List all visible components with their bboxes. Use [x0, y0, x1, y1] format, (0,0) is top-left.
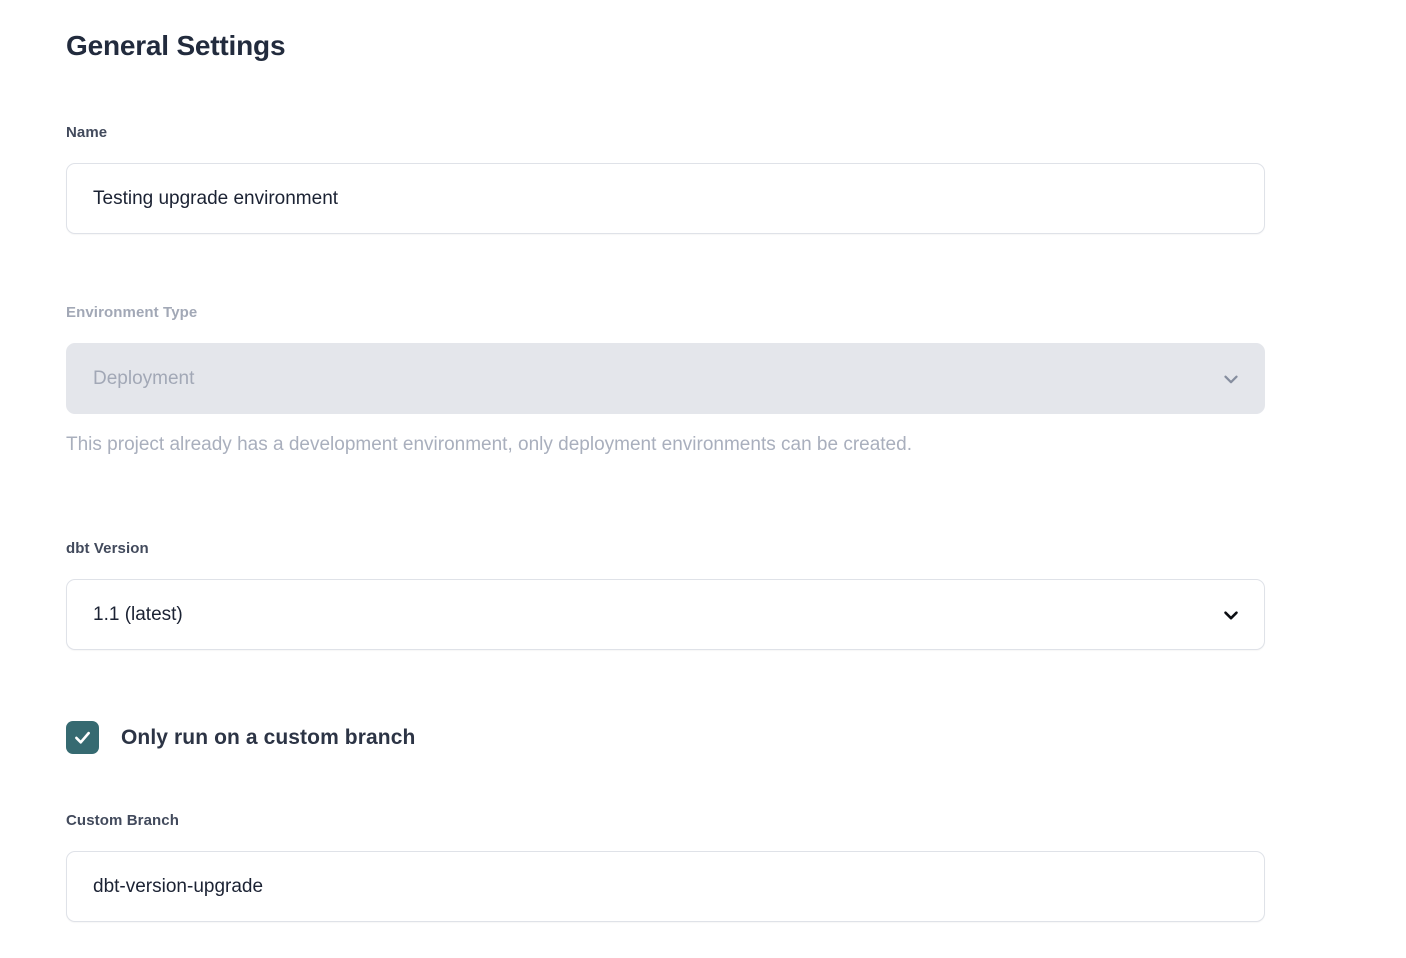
field-environment-type: Environment Type Deployment This project… — [66, 303, 1265, 458]
custom-branch-input[interactable]: dbt-version-upgrade — [66, 851, 1265, 922]
name-label: Name — [66, 123, 1265, 143]
chevron-down-icon — [1220, 368, 1242, 390]
dbt-version-label: dbt Version — [66, 539, 1265, 559]
environment-type-select[interactable]: Deployment — [66, 343, 1265, 414]
general-settings-page: General Settings Name Testing upgrade en… — [0, 0, 1406, 958]
custom-branch-label: Custom Branch — [66, 811, 1265, 831]
custom-branch-input-value: dbt-version-upgrade — [93, 876, 263, 898]
name-input-value: Testing upgrade environment — [93, 188, 338, 210]
field-dbt-version: dbt Version 1.1 (latest) — [66, 539, 1265, 650]
name-input[interactable]: Testing upgrade environment — [66, 163, 1265, 234]
custom-branch-toggle-label: Only run on a custom branch — [121, 726, 415, 750]
environment-type-helper-text: This project already has a development e… — [66, 432, 1265, 458]
field-custom-branch: Custom Branch dbt-version-upgrade — [66, 811, 1265, 922]
field-name: Name Testing upgrade environment — [66, 123, 1265, 234]
dbt-version-value: 1.1 (latest) — [93, 605, 183, 624]
page-title: General Settings — [66, 26, 285, 66]
environment-type-value: Deployment — [93, 369, 194, 388]
chevron-down-icon — [1220, 604, 1242, 626]
checkbox-checked[interactable] — [66, 721, 99, 754]
environment-type-label: Environment Type — [66, 303, 1265, 323]
custom-branch-toggle[interactable]: Only run on a custom branch — [66, 721, 415, 754]
check-icon — [72, 727, 93, 748]
dbt-version-select[interactable]: 1.1 (latest) — [66, 579, 1265, 650]
